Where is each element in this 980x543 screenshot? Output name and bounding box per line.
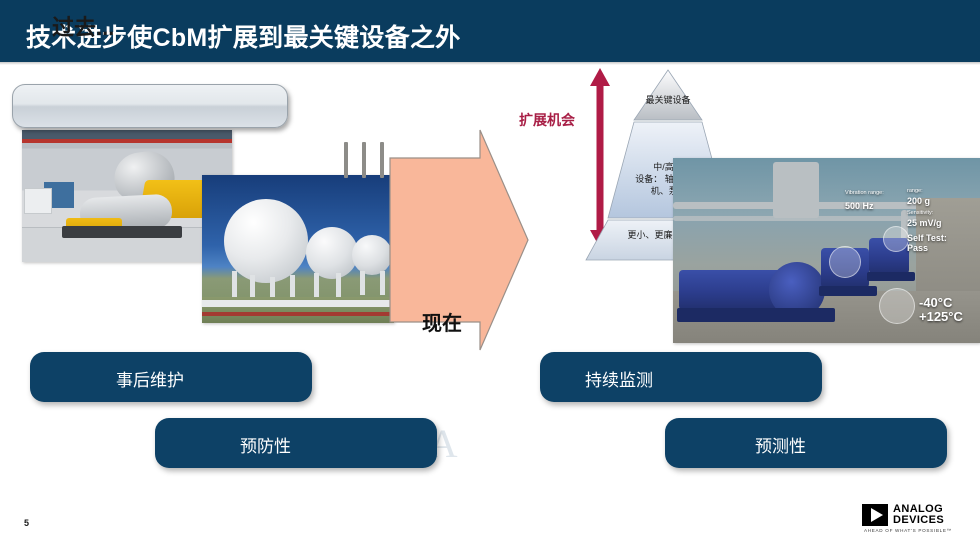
temperature-high-value: +125°C: [919, 310, 963, 325]
temperature-icon: [879, 288, 915, 324]
header-shadow: [0, 62, 980, 65]
past-label-box: [12, 84, 288, 128]
machine-base: [62, 226, 182, 238]
adi-triangle-icon: [862, 504, 888, 526]
sensitivity-caption: Sensitivity:: [907, 210, 933, 216]
pump-base: [867, 272, 915, 281]
overhead-beam: [22, 139, 232, 143]
slide-canvas: 技术进步使CbM扩展到最关键设备之外 IIA: [0, 0, 980, 543]
arrow-label: 现在: [422, 307, 462, 336]
range-value: 200 g: [907, 196, 930, 206]
maturity-box-preventive-label: 预防性: [240, 432, 291, 457]
vibration-icon: [829, 246, 861, 278]
adi-triangle-glyph: [871, 508, 883, 522]
maturity-box-reactive[interactable]: 事后维护: [30, 352, 312, 402]
maturity-box-predictive[interactable]: 预测性: [665, 418, 947, 468]
overhead-duct: [773, 162, 819, 218]
maturity-box-continuous-label: 持续监测: [585, 366, 653, 391]
tank-leg: [314, 273, 319, 297]
white-equipment-block: [24, 188, 52, 214]
maturity-box-reactive-label: 事后维护: [116, 366, 184, 391]
adi-logo-tagline: AHEAD OF WHAT'S POSSIBLE™: [864, 528, 952, 533]
sensor-icon: [883, 226, 909, 252]
maturity-box-predictive-label: 预测性: [755, 432, 806, 457]
arrow-shape: [340, 112, 530, 402]
transition-arrow: 现在: [340, 112, 530, 402]
maturity-box-continuous[interactable]: 持续监测: [540, 352, 822, 402]
range-caption: range:: [907, 188, 923, 194]
adi-logo-line2: DEVICES: [893, 514, 944, 526]
pyramid-tier-top-label: 最关键设备: [568, 94, 768, 106]
analog-devices-logo: ANALOG DEVICES AHEAD OF WHAT'S POSSIBLE™: [862, 502, 974, 536]
maturity-box-preventive[interactable]: 预防性: [155, 418, 437, 468]
sensitivity-value: 25 mV/g: [907, 218, 942, 228]
past-label-text: 过去...: [52, 10, 114, 42]
vibration-range-value: 500 Hz: [845, 201, 874, 211]
page-number: 5: [24, 518, 29, 528]
pump-base: [677, 308, 835, 322]
pump-base: [819, 286, 877, 296]
vibration-range-caption: Vibration range:: [845, 190, 884, 196]
expansion-opportunity-label: 扩展机会: [519, 110, 575, 130]
self-test-status: Self Test: Pass: [907, 233, 947, 254]
industrial-plant-photo: [22, 130, 232, 262]
pump-room-photo: Vibration range: 500 Hz range: 200 g Sen…: [673, 158, 980, 343]
